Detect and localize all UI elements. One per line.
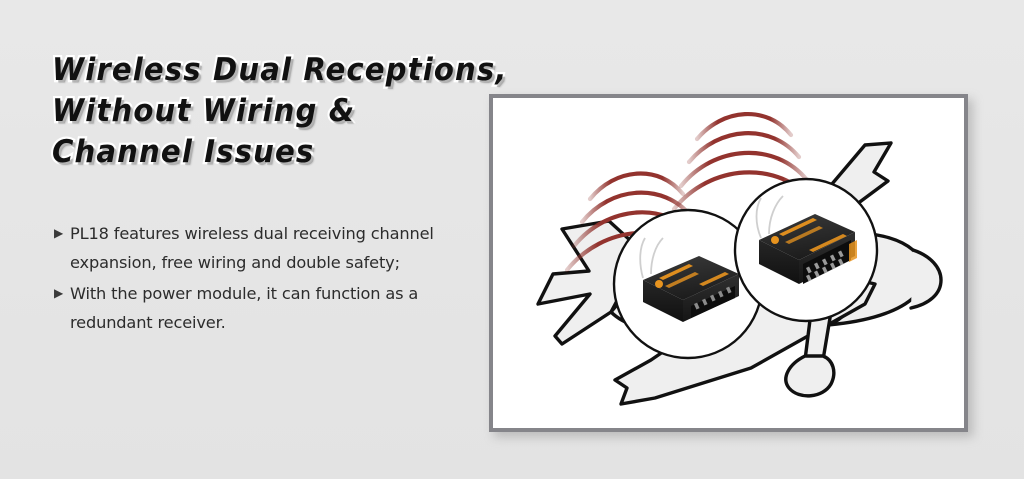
list-item: ▶ PL18 features wireless dual receiving … — [54, 219, 474, 277]
airplane-illustration — [493, 98, 964, 428]
list-item: ▶ With the power module, it can function… — [54, 279, 474, 337]
list-item-text: With the power module, it can function a… — [70, 279, 474, 337]
list-item-text: PL18 features wireless dual receiving ch… — [70, 219, 474, 277]
receiver-right-callout — [735, 179, 877, 321]
panel-content — [493, 98, 964, 428]
module-indicator-left — [655, 280, 663, 288]
heading-line-1: Wireless Dual Receptions, — [52, 50, 541, 91]
airplane-wheel — [786, 356, 834, 396]
airplane-nose — [911, 250, 941, 308]
triangle-bullet-icon: ▶ — [54, 219, 70, 248]
feature-list: ▶ PL18 features wireless dual receiving … — [54, 219, 474, 339]
heading-line-2: Without Wiring & — [52, 91, 541, 132]
module-indicator-right — [771, 236, 779, 244]
promo-slide: Wireless Dual Receptions, Without Wiring… — [0, 0, 1024, 479]
triangle-bullet-icon: ▶ — [54, 279, 70, 308]
illustration-panel — [489, 94, 968, 432]
heading-line-3: Channel Issues — [52, 132, 541, 173]
panel-frame — [489, 94, 968, 432]
